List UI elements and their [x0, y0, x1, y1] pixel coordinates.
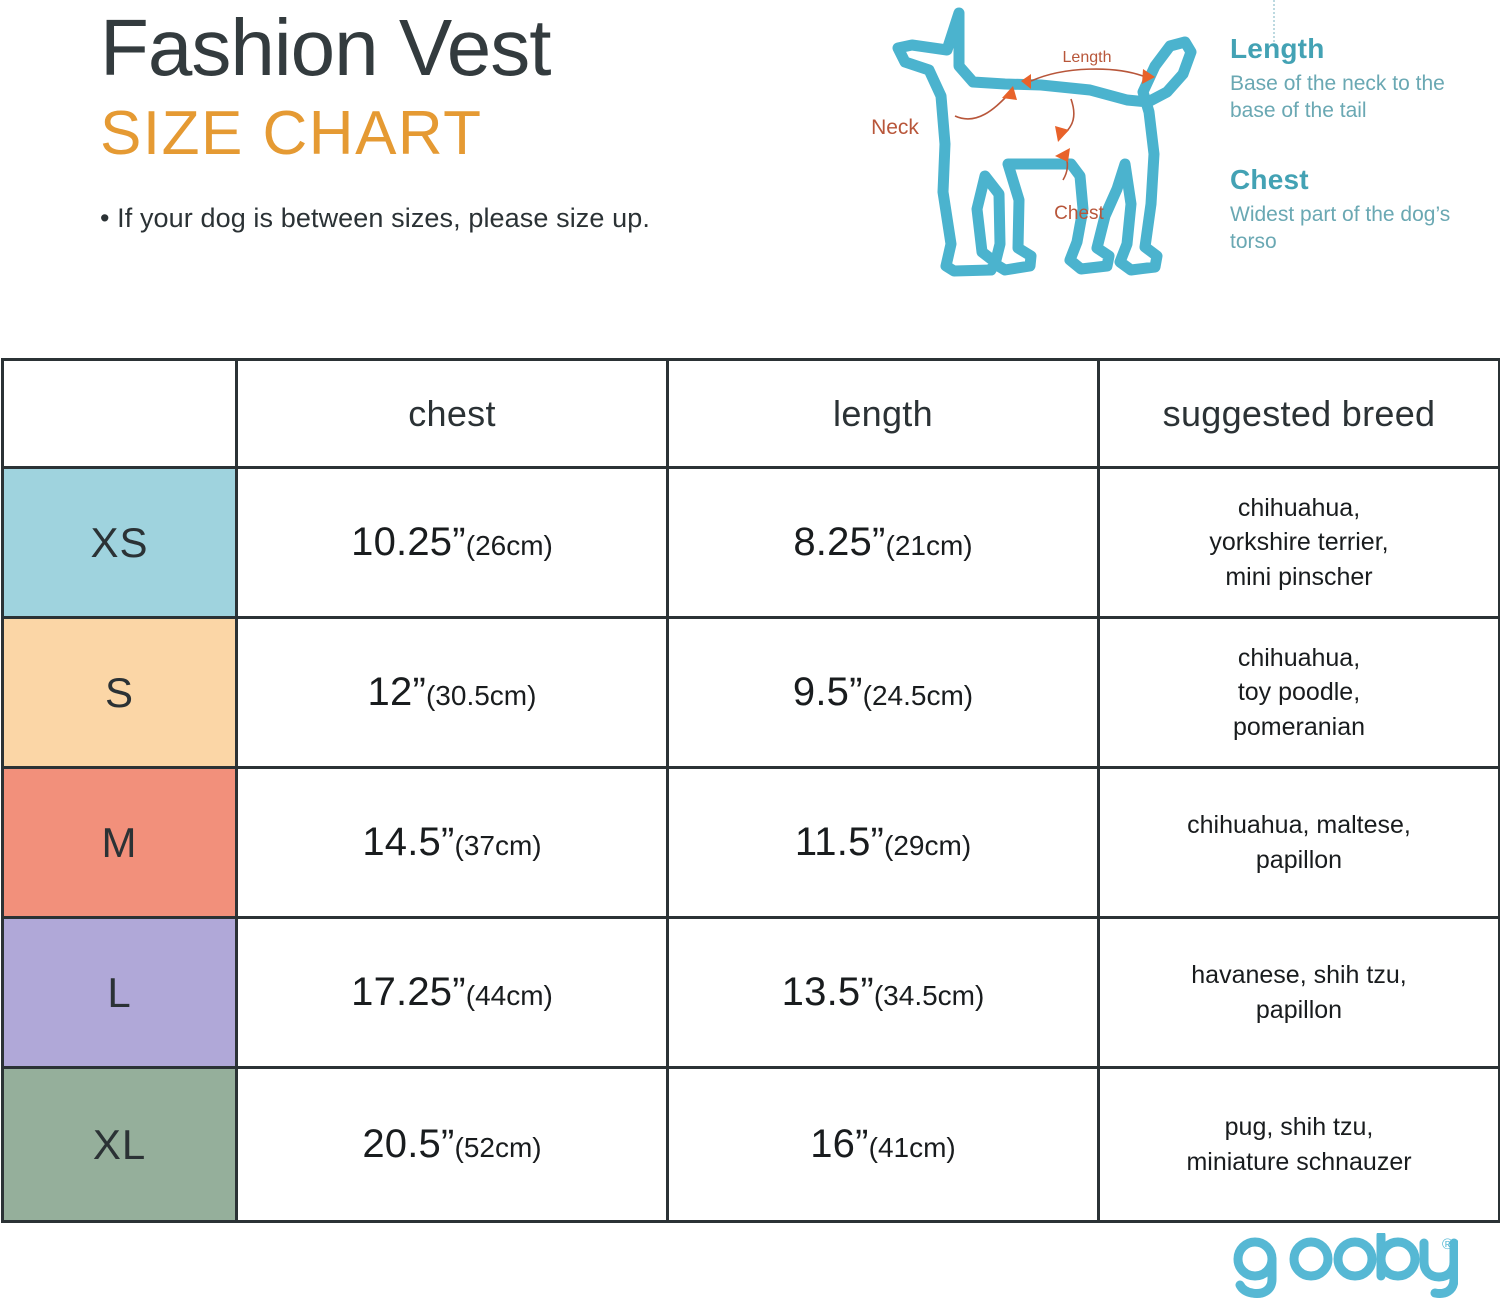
legend-item-length: Length Base of the neck to the base of t…	[1230, 0, 1490, 125]
chest-measurement-cell: 17.25”(44cm)	[237, 918, 668, 1068]
chest-measurement-cell: 12”(30.5cm)	[237, 618, 668, 768]
table-row: S12”(30.5cm)9.5”(24.5cm)chihuahua,toy po…	[3, 618, 1500, 768]
suggested-breed-cell: chihuahua,toy poodle,pomeranian	[1099, 618, 1500, 768]
table-body: XS10.25”(26cm)8.25”(21cm)chihuahua,yorks…	[3, 468, 1500, 1222]
suggested-breed-cell: chihuahua,yorkshire terrier,mini pinsche…	[1099, 468, 1500, 618]
length-inches: 16”	[810, 1122, 868, 1166]
length-centimeters: (41cm)	[869, 1132, 956, 1163]
size-label-cell: S	[3, 618, 237, 768]
length-measure-arrow	[1031, 69, 1143, 81]
table-header: chest length suggested breed	[3, 360, 1500, 468]
length-measurement-cell: 11.5”(29cm)	[668, 768, 1099, 918]
size-label-cell: L	[3, 918, 237, 1068]
legend-heading-length: Length	[1230, 0, 1490, 66]
dog-outline-icon	[898, 13, 1191, 271]
title-block: Fashion Vest SIZE CHART • If your dog is…	[100, 8, 860, 234]
column-header-size	[3, 360, 237, 468]
dog-measurement-diagram: Length Neck Chest	[855, 4, 1215, 304]
length-centimeters: (24.5cm)	[863, 680, 973, 711]
table-header-row: chest length suggested breed	[3, 360, 1500, 468]
length-inches: 8.25”	[793, 520, 885, 564]
legend-body-chest: Widest part of the dog’s torso	[1230, 201, 1490, 256]
size-chart-table: chest length suggested breed XS10.25”(26…	[1, 358, 1500, 1223]
chest-centimeters: (44cm)	[466, 980, 553, 1011]
chest-arrow-down-icon	[1055, 126, 1069, 142]
length-centimeters: (29cm)	[884, 830, 971, 861]
column-header-chest: chest	[237, 360, 668, 468]
diagram-label-neck: Neck	[871, 116, 919, 139]
length-measurement-cell: 9.5”(24.5cm)	[668, 618, 1099, 768]
chest-measurement-cell: 20.5”(52cm)	[237, 1068, 668, 1222]
length-measurement-cell: 13.5”(34.5cm)	[668, 918, 1099, 1068]
length-inches: 9.5”	[793, 670, 863, 714]
diagram-label-chest: Chest	[1054, 203, 1104, 224]
table-row: XS10.25”(26cm)8.25”(21cm)chihuahua,yorks…	[3, 468, 1500, 618]
chest-measurement-cell: 10.25”(26cm)	[237, 468, 668, 618]
suggested-breed-cell: chihuahua, maltese,papillon	[1099, 768, 1500, 918]
page-subtitle: SIZE CHART	[100, 98, 860, 169]
chest-centimeters: (52cm)	[455, 1132, 542, 1163]
suggested-breed-cell: pug, shih tzu,miniature schnauzer	[1099, 1068, 1500, 1222]
table-row: L17.25”(44cm)13.5”(34.5cm)havanese, shih…	[3, 918, 1500, 1068]
legend-dotted-connector	[1273, 0, 1275, 42]
length-inches: 13.5”	[782, 970, 874, 1014]
page-title: Fashion Vest	[100, 8, 860, 88]
table-row: M14.5”(37cm)11.5”(29cm)chihuahua, maltes…	[3, 768, 1500, 918]
legend-item-chest: Chest Widest part of the dog’s torso	[1230, 163, 1490, 256]
chest-centimeters: (30.5cm)	[426, 680, 536, 711]
chest-inches: 14.5”	[362, 820, 454, 864]
measurement-legend: Length Base of the neck to the base of t…	[1230, 0, 1490, 256]
header: Fashion Vest SIZE CHART • If your dog is…	[0, 0, 1500, 358]
column-header-breed: suggested breed	[1099, 360, 1500, 468]
length-measurement-cell: 16”(41cm)	[668, 1068, 1099, 1222]
suggested-breed-cell: havanese, shih tzu,papillon	[1099, 918, 1500, 1068]
gooby-wordmark-icon	[1238, 1235, 1454, 1293]
table-row: XL20.5”(52cm)16”(41cm)pug, shih tzu,mini…	[3, 1068, 1500, 1222]
length-inches: 11.5”	[795, 820, 884, 864]
legend-body-length: Base of the neck to the base of the tail	[1230, 70, 1490, 125]
chest-centimeters: (26cm)	[466, 530, 553, 561]
legend-heading-chest: Chest	[1230, 163, 1490, 197]
length-centimeters: (34.5cm)	[874, 980, 984, 1011]
size-label-cell: M	[3, 768, 237, 918]
column-header-length: length	[668, 360, 1099, 468]
neck-measure-arrow	[955, 96, 1007, 119]
chest-measurement-cell: 14.5”(37cm)	[237, 768, 668, 918]
chest-centimeters: (37cm)	[455, 830, 542, 861]
sizing-note: • If your dog is between sizes, please s…	[100, 203, 860, 234]
diagram-label-length: Length	[1063, 49, 1112, 66]
chest-inches: 10.25”	[351, 520, 466, 564]
brand-logo: ®	[1228, 1233, 1458, 1299]
length-centimeters: (21cm)	[886, 530, 973, 561]
length-measurement-cell: 8.25”(21cm)	[668, 468, 1099, 618]
chest-inches: 20.5”	[362, 1122, 454, 1166]
size-label-cell: XS	[3, 468, 237, 618]
chest-inches: 12”	[368, 670, 426, 714]
size-label-cell: XL	[3, 1068, 237, 1222]
chest-inches: 17.25”	[351, 970, 466, 1014]
registered-trademark-icon: ®	[1442, 1236, 1453, 1253]
